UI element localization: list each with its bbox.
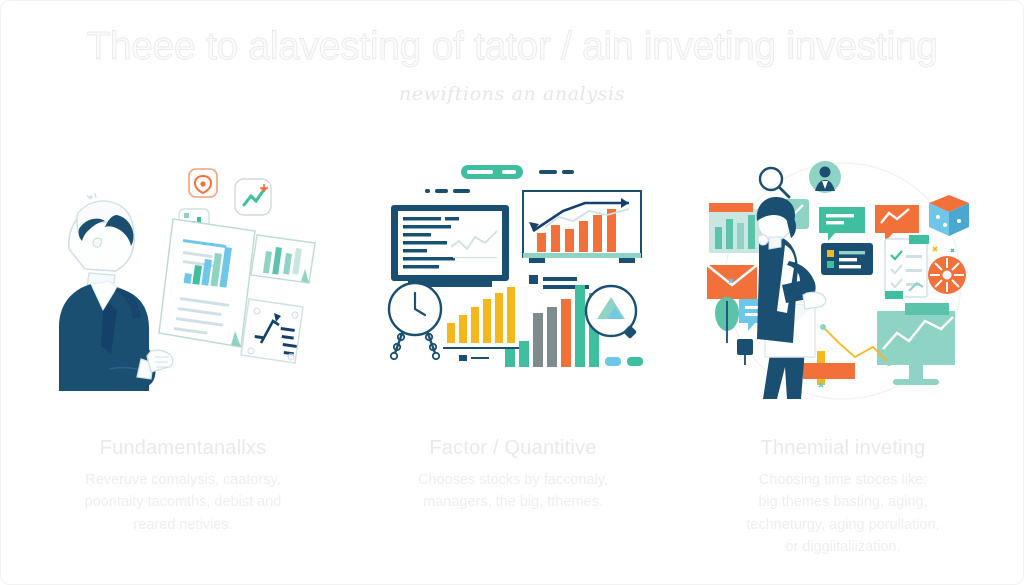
body-line: big themes basting, aging, (698, 491, 988, 513)
column-body: Reveruve comalysis, caatorsy, poontaity … (38, 469, 328, 536)
page-subtitle: newiftions an analysis (1, 83, 1023, 105)
body-line: or diggiitaliization. (698, 536, 988, 558)
column-heading: Thnemiial inveting (761, 437, 926, 460)
page-title: Theee to alavesting of tator / ain invet… (1, 27, 1023, 68)
columns-container: Fundamentanallxs Reveruve comalysis, caa… (23, 151, 1003, 559)
infographic-slide: Theee to alavesting of tator / ain invet… (0, 0, 1024, 585)
body-line: poontaity tacomths, debist and (38, 491, 328, 513)
body-line: managers, the big, tthemes. (368, 491, 658, 513)
column-body: Choosing time stoces like: big themes ba… (698, 469, 988, 559)
body-line: Reveruve comalysis, caatorsy, (38, 469, 328, 491)
column-heading: Fundamentanallxs (100, 437, 267, 460)
businessman-with-icons-illustration (693, 151, 993, 401)
column-heading: Factor / Quantitive (429, 437, 596, 460)
data-analytics-dashboard-illustration (363, 151, 663, 401)
column-body: Chooses stocks by facconaly, managers, t… (368, 469, 658, 514)
column-factor-quantitative: Factor / Quantitive Chooses stocks by fa… (353, 151, 673, 559)
body-line: reared netivies. (38, 514, 328, 536)
header: Theee to alavesting of tator / ain invet… (1, 27, 1023, 105)
analyst-reviewing-reports-illustration (33, 151, 333, 401)
column-thematic: Thnemiial inveting Choosing time stoces … (683, 151, 1003, 559)
body-line: techneturgy, aging porullation, (698, 514, 988, 536)
body-line: Chooses stocks by facconaly, (368, 469, 658, 491)
column-fundamental: Fundamentanallxs Reveruve comalysis, caa… (23, 151, 343, 559)
body-line: Choosing time stoces like: (698, 469, 988, 491)
